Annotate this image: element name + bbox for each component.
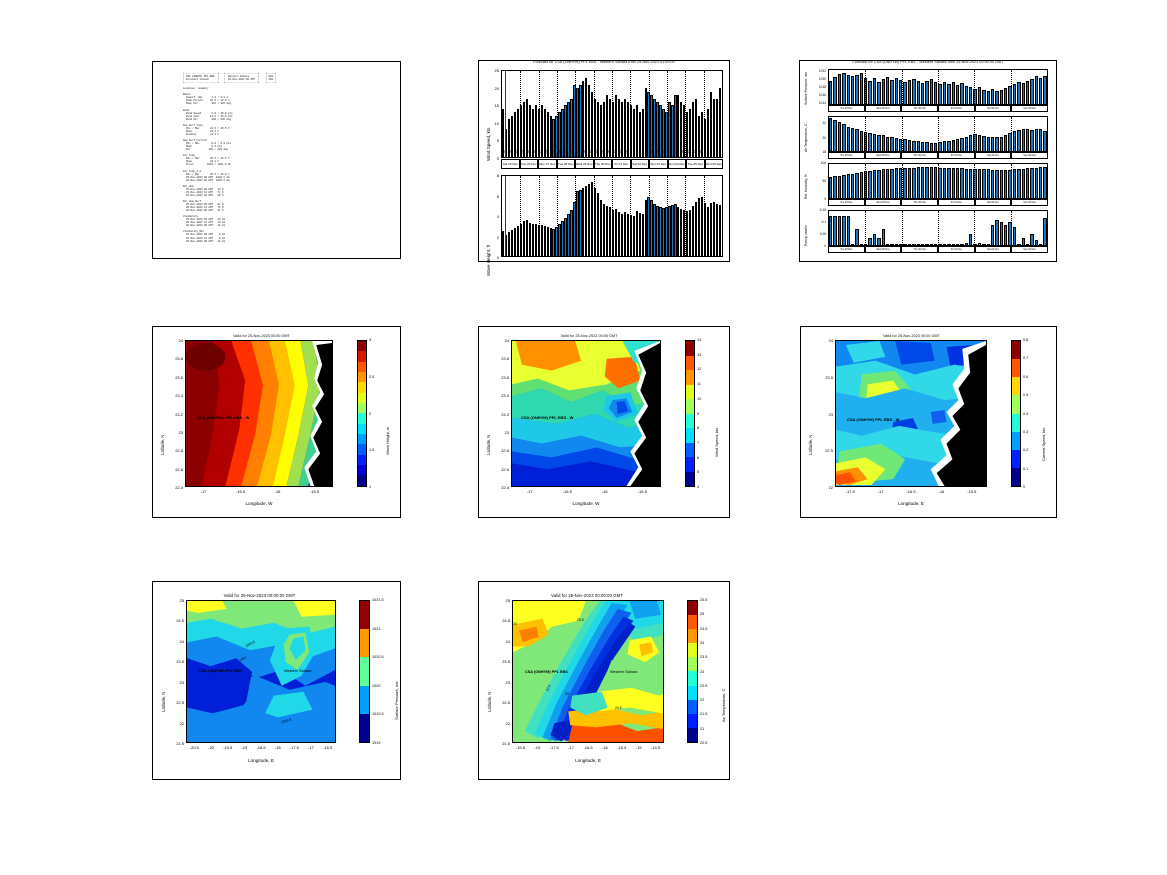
colorbar-tick: 1020 xyxy=(372,684,380,688)
day-separator xyxy=(974,117,976,151)
bar xyxy=(978,169,981,198)
ytick: 22.6 xyxy=(491,467,509,472)
colorbar-tick: 0.1 xyxy=(1023,467,1028,471)
ytick: 25 xyxy=(483,68,499,73)
wind-contour-field xyxy=(512,341,660,486)
bar xyxy=(1004,88,1007,104)
current-map-site-label: CSA (ONHYM) PPL EBS - W xyxy=(847,417,899,422)
colorbar-tick: 0.4 xyxy=(1023,412,1028,416)
ytick: 24 xyxy=(491,338,509,343)
bar xyxy=(615,95,617,157)
bar xyxy=(877,82,880,104)
bar xyxy=(1000,170,1003,198)
bar xyxy=(1026,168,1029,198)
bar xyxy=(508,232,510,256)
colorbar-tick: 24.5 xyxy=(700,627,707,631)
ytick: 23.4 xyxy=(165,393,183,398)
bar xyxy=(838,122,841,151)
bar xyxy=(621,214,623,256)
colorbar-tick: 3 xyxy=(369,338,371,342)
day-separator xyxy=(974,211,976,245)
current-speed-map-panel: Valid for 25-Nov-2023 00:00 GMT Latitude… xyxy=(800,326,1057,518)
bar xyxy=(947,141,950,151)
bar xyxy=(653,99,655,157)
bar xyxy=(868,171,871,198)
bar xyxy=(868,81,871,104)
bar xyxy=(982,169,985,198)
bar xyxy=(677,95,679,157)
bar xyxy=(995,220,998,245)
bar xyxy=(532,224,534,256)
ytick: 22.8 xyxy=(491,448,509,453)
bar xyxy=(969,169,972,198)
wave-map-axes xyxy=(185,340,333,487)
bar xyxy=(847,75,850,104)
bar xyxy=(1004,225,1007,245)
day-separator xyxy=(557,71,559,157)
ytick: 22.5 xyxy=(492,700,510,705)
day-separator xyxy=(575,176,577,256)
bar xyxy=(597,193,599,256)
ytick: 23 xyxy=(165,430,183,435)
colorbar-segment xyxy=(358,434,366,444)
bar xyxy=(991,137,994,151)
bar xyxy=(662,208,664,256)
pressure-map-region-label: Western Sahara xyxy=(284,669,311,673)
bar xyxy=(1013,227,1016,245)
bar xyxy=(1013,84,1016,104)
wave-map-title: Valid for 25-Nov-2023 00:00 GMT xyxy=(163,334,360,338)
bar xyxy=(995,137,998,151)
bar xyxy=(917,167,920,198)
bar xyxy=(921,244,924,245)
bar xyxy=(609,207,611,256)
colorbar-segment xyxy=(688,629,697,643)
ytick: 22 xyxy=(815,485,833,490)
bar xyxy=(833,176,836,198)
day-separator xyxy=(1011,117,1013,151)
bar xyxy=(995,91,998,104)
ytick: 0.1 xyxy=(808,220,826,224)
bar xyxy=(1039,244,1042,245)
bar xyxy=(579,190,581,256)
wind-wave-timeseries-panel: Forecast for CSA (ONHYM) PPL EBS - Weste… xyxy=(478,60,730,262)
bar xyxy=(952,140,955,151)
day-separator xyxy=(685,176,687,256)
bar xyxy=(650,200,652,256)
bar xyxy=(618,212,620,256)
current-map-colorbar-label: Current Speed, kts xyxy=(1041,428,1046,461)
temperature-contour-label-23-5: 23.5 xyxy=(577,618,584,622)
colorbar-segment xyxy=(688,686,697,700)
pressure-map-colorbar-label: Surface Pressure, mb xyxy=(394,681,399,720)
date-box: Tue 28 Nov xyxy=(828,105,865,112)
day-separator xyxy=(557,176,559,256)
bar xyxy=(895,78,898,104)
wave-height-axes xyxy=(501,175,723,257)
pressure-map-xlabel: Longitude, E xyxy=(186,758,336,763)
day-separator xyxy=(902,70,904,104)
bar xyxy=(960,138,963,151)
bar xyxy=(1022,83,1025,104)
colorbar-tick: 10 xyxy=(697,397,701,401)
bar xyxy=(890,169,893,198)
bar xyxy=(847,216,850,245)
bar xyxy=(713,99,715,157)
colorbar-tick: 0.5 xyxy=(1023,393,1028,397)
date-box: Sun 03 Dec xyxy=(1011,246,1048,253)
subplot-surface-pressure xyxy=(828,69,1048,105)
bar xyxy=(1004,170,1007,198)
bar xyxy=(851,128,854,151)
wave-map-colorbar-label: Wave Height, m xyxy=(385,427,390,455)
bar xyxy=(692,102,694,157)
bar xyxy=(921,142,924,151)
bar xyxy=(674,204,676,256)
bar xyxy=(606,206,608,256)
ytick: 1020 xyxy=(808,77,826,81)
bar xyxy=(842,216,845,245)
bar xyxy=(934,82,937,104)
bar xyxy=(956,139,959,151)
ytick: 24.5 xyxy=(492,618,510,623)
colorbar-segment xyxy=(688,615,697,629)
bar xyxy=(603,102,605,157)
colorbar-segment xyxy=(358,382,366,392)
bar xyxy=(851,174,854,198)
bar xyxy=(868,238,871,245)
date-box: Wed 29 Nov xyxy=(865,199,902,206)
colorbar-segment xyxy=(358,455,366,465)
day-separator xyxy=(865,117,867,151)
bar xyxy=(674,95,676,157)
colorbar-segment xyxy=(688,601,697,615)
bar xyxy=(860,73,863,104)
day-separator xyxy=(865,70,867,104)
xtick: -17 xyxy=(870,489,892,494)
bar xyxy=(695,99,697,157)
bar xyxy=(1026,81,1029,104)
bar xyxy=(925,167,928,198)
colorbar-segment xyxy=(358,475,366,485)
bar xyxy=(921,167,924,198)
bar xyxy=(960,244,963,245)
pressure-map-site-label: CSA (ONHYM) PPL EBS xyxy=(199,669,242,673)
bar xyxy=(1022,238,1025,245)
ytick: 20 xyxy=(808,136,826,140)
ytick: 22 xyxy=(492,721,510,726)
day-separator xyxy=(649,71,651,157)
bar xyxy=(716,99,718,157)
date-box: Thu 30 Nov xyxy=(901,105,938,112)
bar xyxy=(895,168,898,198)
xtick: -16.5 xyxy=(556,489,578,494)
bar xyxy=(978,243,981,245)
ytick: 22 xyxy=(808,121,826,125)
colorbar-segment xyxy=(360,601,369,629)
colorbar-segment xyxy=(688,671,697,685)
bar xyxy=(934,167,937,198)
bar xyxy=(698,198,700,256)
colorbar-segment xyxy=(688,700,697,714)
bar xyxy=(860,172,863,198)
day-separator xyxy=(539,71,541,157)
bar xyxy=(956,85,959,104)
now-marker xyxy=(505,176,506,256)
bar xyxy=(965,243,968,245)
bar xyxy=(842,175,845,198)
bar xyxy=(873,170,876,198)
date-box: Thu 30 Nov xyxy=(594,159,613,169)
ytick: 15 xyxy=(483,103,499,108)
day-separator xyxy=(1011,70,1013,104)
wind-map-site-label: CSA (ONHYM) PPL EBS - W xyxy=(521,415,573,420)
colorbar-segment xyxy=(686,414,694,429)
xtick: -15.5 xyxy=(304,489,326,494)
wind-map-title: Valid for 25-Nov-2023 00:00 GMT xyxy=(489,334,689,338)
colorbar-tick: 0.7 xyxy=(1023,356,1028,360)
bar xyxy=(969,87,972,104)
bar xyxy=(991,225,994,245)
current-map-colorbar xyxy=(1011,340,1021,487)
bar xyxy=(1039,167,1042,198)
ytick: 25 xyxy=(492,598,510,603)
colorbar-tick: 5 xyxy=(697,470,699,474)
colorbar-segment xyxy=(686,356,694,371)
colorbar-tick: 1021 xyxy=(372,627,380,631)
colorbar-tick: 4 xyxy=(697,485,699,489)
bar xyxy=(952,244,955,245)
bar xyxy=(1017,169,1020,198)
ytick: 10 xyxy=(483,121,499,126)
bar xyxy=(978,135,981,151)
ytick: 0 xyxy=(483,255,499,260)
bar xyxy=(582,81,584,157)
colorbar-tick: 8 xyxy=(697,426,699,430)
ytick: 23.6 xyxy=(165,375,183,380)
bar xyxy=(639,213,641,256)
bar xyxy=(1017,244,1020,245)
ytick: 0.05 xyxy=(808,232,826,236)
bar xyxy=(877,238,880,245)
ytick: 18 xyxy=(808,150,826,154)
bar xyxy=(838,74,841,104)
date-box: Fri 01 Dec xyxy=(612,159,631,169)
bar xyxy=(1043,218,1046,245)
day-separator xyxy=(594,71,596,157)
bar xyxy=(943,168,946,198)
bar xyxy=(1039,129,1042,151)
colorbar-tick: 11 xyxy=(697,382,701,386)
colorbar-segment xyxy=(358,393,366,403)
bar xyxy=(855,75,858,104)
ytick: 23.5 xyxy=(815,375,833,380)
ytick: 22.4 xyxy=(165,485,183,490)
colorbar-segment xyxy=(688,643,697,657)
ytick: 22.8 xyxy=(165,448,183,453)
temperature-map-region-label: Western Sahara xyxy=(610,670,637,674)
bar xyxy=(1000,90,1003,104)
bar xyxy=(868,133,871,151)
bar xyxy=(921,83,924,104)
wave-map-colorbar xyxy=(357,340,367,487)
bar xyxy=(833,216,836,245)
bar xyxy=(991,89,994,104)
date-box: Fri 01 Dec xyxy=(938,105,975,112)
bar xyxy=(960,83,963,104)
colorbar-segment xyxy=(358,424,366,434)
colorbar-segment xyxy=(358,341,366,351)
bar xyxy=(829,118,832,151)
colorbar-segment xyxy=(1012,450,1020,468)
bar xyxy=(552,229,554,256)
bar xyxy=(636,211,638,256)
bar xyxy=(544,226,546,256)
bar xyxy=(588,184,590,256)
ytick: 25 xyxy=(166,598,184,603)
subplot-air-temperature xyxy=(828,116,1048,152)
bar xyxy=(1043,76,1046,104)
current-map-xlabel: Longitude, E xyxy=(835,501,987,506)
bar xyxy=(895,138,898,151)
day-separator xyxy=(938,211,940,245)
ytick: 24 xyxy=(492,639,510,644)
bar xyxy=(645,200,647,256)
bar xyxy=(908,80,911,104)
bar xyxy=(653,204,655,256)
bar xyxy=(952,82,955,104)
date-box: Sat 25 Nov xyxy=(501,159,520,169)
bar xyxy=(947,168,950,198)
bar xyxy=(925,142,928,151)
bar xyxy=(529,223,531,256)
ytick: 23.5 xyxy=(166,659,184,664)
wave-height-ylabel: Wave Height, ft xyxy=(486,245,491,276)
bar xyxy=(1035,129,1038,151)
colorbar-segment xyxy=(686,341,694,356)
bar xyxy=(692,206,694,256)
bar xyxy=(886,244,889,245)
bar xyxy=(1043,167,1046,198)
bar xyxy=(1030,79,1033,104)
date-box: Sun 03 Dec xyxy=(1011,199,1048,206)
bar xyxy=(943,82,946,104)
colorbar-tick: 9 xyxy=(697,412,699,416)
bar xyxy=(947,84,950,104)
ytick: 0.15 xyxy=(808,208,826,212)
ytick: 1014 xyxy=(808,101,826,105)
bar xyxy=(903,168,906,198)
current-map-ylabel: Latitude, N xyxy=(808,435,813,455)
bar xyxy=(1030,234,1033,245)
colorbar-segment xyxy=(686,399,694,414)
date-box: Thu 30 Nov xyxy=(901,152,938,159)
bar xyxy=(934,143,937,151)
colorbar-tick: 1 xyxy=(369,485,371,489)
ytick: 23 xyxy=(166,680,184,685)
wind-speed-map-panel: Valid for 25-Nov-2023 00:00 GMT Latitude… xyxy=(478,326,730,518)
bar xyxy=(526,99,528,157)
day-separator xyxy=(1011,211,1013,245)
xtick: -14.5 xyxy=(645,745,667,750)
bar xyxy=(526,220,528,256)
colorbar-segment xyxy=(688,714,697,728)
bar xyxy=(615,209,617,256)
colorbar-segment xyxy=(1012,341,1020,359)
colorbar-tick: 23 xyxy=(700,670,704,674)
date-box: Fri 01 Dec xyxy=(938,152,975,159)
bar xyxy=(656,206,658,256)
day-separator xyxy=(1011,164,1013,198)
bar xyxy=(982,244,985,245)
bar xyxy=(908,244,911,245)
day-separator xyxy=(938,70,940,104)
day-separator xyxy=(938,164,940,198)
colorbar-tick: 1020.5 xyxy=(372,655,384,659)
bar xyxy=(603,204,605,256)
ytick: 4 xyxy=(483,214,499,219)
bar xyxy=(969,234,972,245)
colorbar-segment xyxy=(360,686,369,714)
colorbar-tick: 7 xyxy=(697,441,699,445)
bar xyxy=(952,168,955,198)
date-box: Tue 05 Dec xyxy=(686,159,705,169)
subplot-precipitation xyxy=(828,210,1048,246)
colorbar-segment xyxy=(686,428,694,443)
colorbar-segment xyxy=(1012,359,1020,377)
date-box: Wed 06 Dec xyxy=(705,159,724,169)
colorbar-segment xyxy=(1012,432,1020,450)
timeseries-title: Forecast for CSA (ONHYM) PPL EBS - Weste… xyxy=(479,60,729,64)
ytick: 24 xyxy=(165,338,183,343)
ytick: 24 xyxy=(166,639,184,644)
date-box: Wed 29 Nov xyxy=(865,105,902,112)
bar xyxy=(982,136,985,151)
day-separator xyxy=(865,211,867,245)
day-separator xyxy=(685,71,687,157)
ytick: 23 xyxy=(491,430,509,435)
bar xyxy=(912,79,915,104)
temperature-contour-label-23: 23 xyxy=(565,692,569,696)
xtick: -17 xyxy=(193,489,215,494)
colorbar-tick: 0.2 xyxy=(1023,448,1028,452)
date-box: Tue 28 Nov xyxy=(828,152,865,159)
day-separator xyxy=(520,176,522,256)
bar xyxy=(890,80,893,104)
bar xyxy=(1004,135,1007,151)
air-temperature-map-panel: Valid for 25-Nov-2023 00:00:00 GMT Latit… xyxy=(478,581,730,780)
bar xyxy=(978,87,981,104)
bar xyxy=(1013,131,1016,151)
colorbar-tick: 6 xyxy=(697,456,699,460)
ytick: 22.5 xyxy=(815,448,833,453)
ytick: 0 xyxy=(808,244,826,248)
bar xyxy=(719,205,721,256)
colorbar-segment xyxy=(686,385,694,400)
bar xyxy=(689,210,691,256)
colorbar-tick: 20.5 xyxy=(700,741,707,745)
bar xyxy=(656,102,658,157)
bar xyxy=(677,207,679,256)
wave-contour-field xyxy=(186,341,332,486)
day-separator xyxy=(704,71,706,157)
bar xyxy=(582,188,584,256)
bar xyxy=(1039,78,1042,104)
bar xyxy=(570,210,572,256)
bar xyxy=(873,134,876,151)
bar xyxy=(523,221,525,256)
temperature-map-colorbar xyxy=(687,600,698,743)
